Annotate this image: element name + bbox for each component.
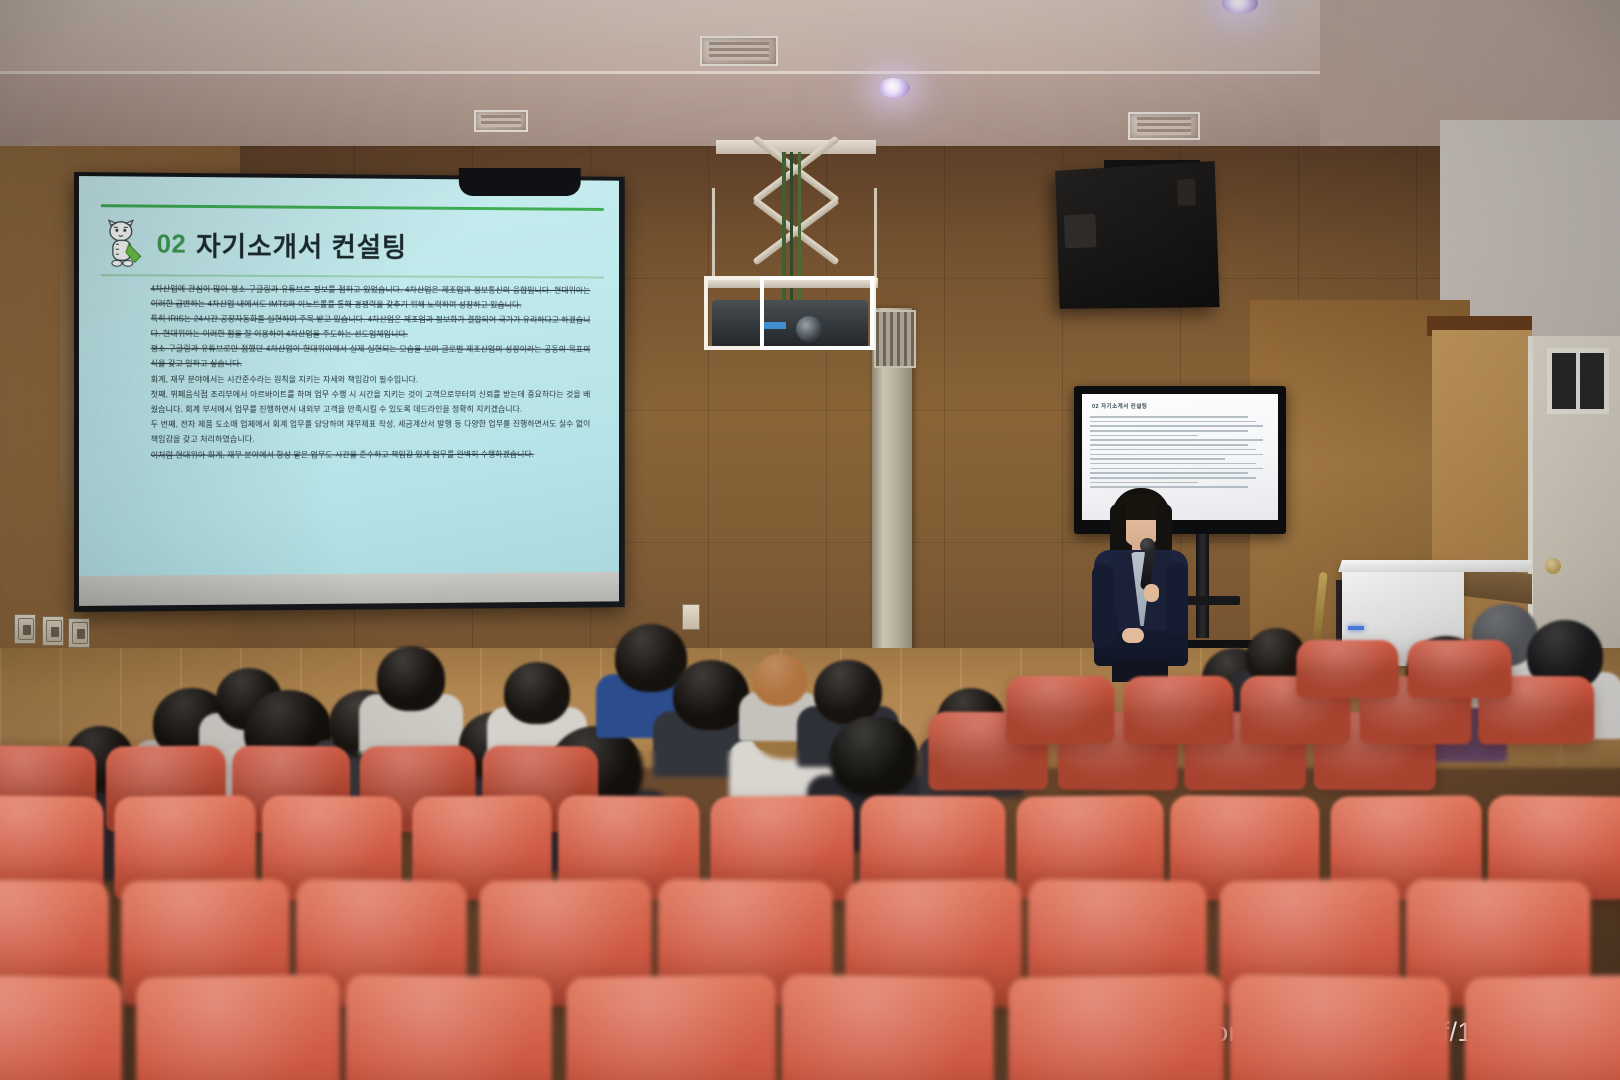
slide-paragraph: 이처럼 현대위아 회계, 재무 분야에서 항상 맡은 업무도 시간을 준수하고 … bbox=[151, 447, 591, 463]
auditorium-seat bbox=[1006, 676, 1114, 745]
slide-number: 02 bbox=[157, 228, 187, 259]
monitor-text-line bbox=[1090, 477, 1256, 479]
monitor-text-line bbox=[1090, 463, 1256, 465]
air-vent-grille-icon bbox=[874, 310, 916, 368]
door-window-icon bbox=[1547, 348, 1609, 414]
audience-head bbox=[830, 716, 917, 797]
auditorium-seat bbox=[0, 974, 122, 1080]
monitor-text-line bbox=[1090, 454, 1263, 456]
monitor-text-line bbox=[1090, 421, 1256, 423]
monitor-text-line bbox=[1090, 468, 1263, 470]
monitor-text-line bbox=[1090, 472, 1248, 474]
wall-outlet[interactable] bbox=[18, 618, 34, 640]
slide-paragraph: 평소 구글링과 유튜브로만 접했던 4차산업이 현대위아에서 실제 실현되는 모… bbox=[151, 343, 591, 372]
auditorium-seat bbox=[781, 974, 993, 1080]
auditorium-seat bbox=[1229, 974, 1449, 1080]
screen-lower-band bbox=[79, 572, 619, 606]
presentation-slide: 02 자기소개서 컨설팅 4차산업에 관심이 많아 평소 구글링과 유튜브로 정… bbox=[79, 176, 619, 578]
monitor-text-line bbox=[1090, 439, 1263, 441]
monitor-text-line bbox=[1090, 435, 1198, 437]
auditorium-seat bbox=[1124, 676, 1234, 745]
wall-pa-speaker bbox=[1055, 161, 1219, 309]
monitor-text-line bbox=[1090, 482, 1198, 484]
microphone-head-icon bbox=[1140, 538, 1155, 553]
speaker-presenter bbox=[1086, 488, 1194, 678]
audience-head bbox=[814, 660, 881, 724]
auditorium-seat bbox=[1465, 974, 1620, 1080]
monitor-text-line bbox=[1090, 430, 1248, 432]
auditorium-seat bbox=[346, 974, 552, 1080]
lift-drop-rod bbox=[712, 188, 715, 280]
monitor-slide-title: 02 자기소개서 컨설팅 bbox=[1092, 402, 1147, 410]
monitor-text-lines bbox=[1090, 416, 1270, 491]
wall-outlet[interactable] bbox=[46, 620, 62, 642]
podium-led-indicator bbox=[1348, 626, 1364, 630]
audience-head bbox=[377, 646, 446, 711]
ceiling-vent-icon bbox=[474, 110, 528, 132]
monitor-text-line bbox=[1090, 444, 1248, 446]
screen-surface: 02 자기소개서 컨설팅 4차산업에 관심이 많아 평소 구글링과 유튜브로 정… bbox=[79, 176, 619, 578]
slide-title: 자기소개서 컨설팅 bbox=[196, 224, 407, 264]
wall-outlet[interactable] bbox=[72, 622, 88, 644]
auditorium-seat bbox=[1408, 640, 1512, 699]
slide-paragraph: 회계, 재무 분야에서는 시간준수라는 원칙을 지키는 자세와 책임감이 필수입… bbox=[151, 373, 591, 388]
screen-top-occluder bbox=[459, 168, 581, 196]
audience-head bbox=[753, 654, 807, 706]
slide-paragraph: 특히 IRIS는 24시간 공장자동화를 실현하며 주목 받고 있습니다. 4차… bbox=[151, 312, 591, 342]
ceiling-vent-icon bbox=[700, 36, 778, 66]
auditorium-seat bbox=[136, 974, 340, 1080]
monitor-text-line bbox=[1090, 458, 1225, 460]
projector-safety-cage-inner bbox=[760, 276, 874, 350]
auditorium-seat bbox=[566, 974, 776, 1080]
audience-head bbox=[673, 660, 749, 730]
projection-screen: 02 자기소개서 컨설팅 4차산업에 관심이 많아 평소 구글링과 유튜브로 정… bbox=[74, 172, 625, 612]
ceiling-downlight-icon bbox=[878, 78, 910, 98]
slide-header: 02 자기소개서 컨설팅 bbox=[105, 216, 600, 272]
auditorium-seat bbox=[1008, 974, 1224, 1080]
slide-paragraph: 두 번째, 전자 제품 도소매 업체에서 회계 업무를 담당하며 재무제표 작성… bbox=[151, 418, 591, 448]
slide-paragraph: 4차산업에 관심이 많아 평소 구글링과 유튜브로 정보를 접하고 있었습니다.… bbox=[151, 282, 591, 313]
auditorium-seat bbox=[1296, 640, 1398, 699]
tiger-mascot-icon bbox=[105, 218, 147, 268]
door-knob-icon[interactable] bbox=[1545, 558, 1561, 574]
monitor-text-line bbox=[1090, 449, 1256, 451]
lectern-top bbox=[1338, 560, 1532, 572]
slide-paragraph: 첫째, 뷔페음식점 조리부에서 아르바이트를 하며 업무 수행 시 시간을 지키… bbox=[151, 388, 591, 417]
slide-top-rule bbox=[101, 204, 604, 211]
slide-body-text: 4차산업에 관심이 많아 평소 구글링과 유튜브로 정보를 접하고 있었습니다.… bbox=[151, 282, 591, 569]
monitor-stand-post bbox=[1196, 534, 1209, 638]
presenter-arm-right bbox=[1166, 562, 1188, 634]
ceiling-vent-icon bbox=[1128, 112, 1200, 140]
monitor-text-line bbox=[1090, 425, 1263, 427]
monitor-text-line bbox=[1090, 416, 1248, 418]
presenter-hand-left bbox=[1122, 628, 1144, 643]
lecture-hall-photo: 02 자기소개서 컨설팅 4차산업에 관심이 많아 평소 구글링과 유튜브로 정… bbox=[0, 0, 1620, 1080]
lift-drop-rod bbox=[874, 188, 877, 280]
slide-bottom-rule bbox=[101, 274, 604, 278]
presenter-hand-right bbox=[1144, 584, 1159, 602]
audience-head bbox=[504, 662, 570, 724]
presenter-arm-left bbox=[1092, 564, 1114, 648]
audience-member bbox=[370, 646, 452, 734]
